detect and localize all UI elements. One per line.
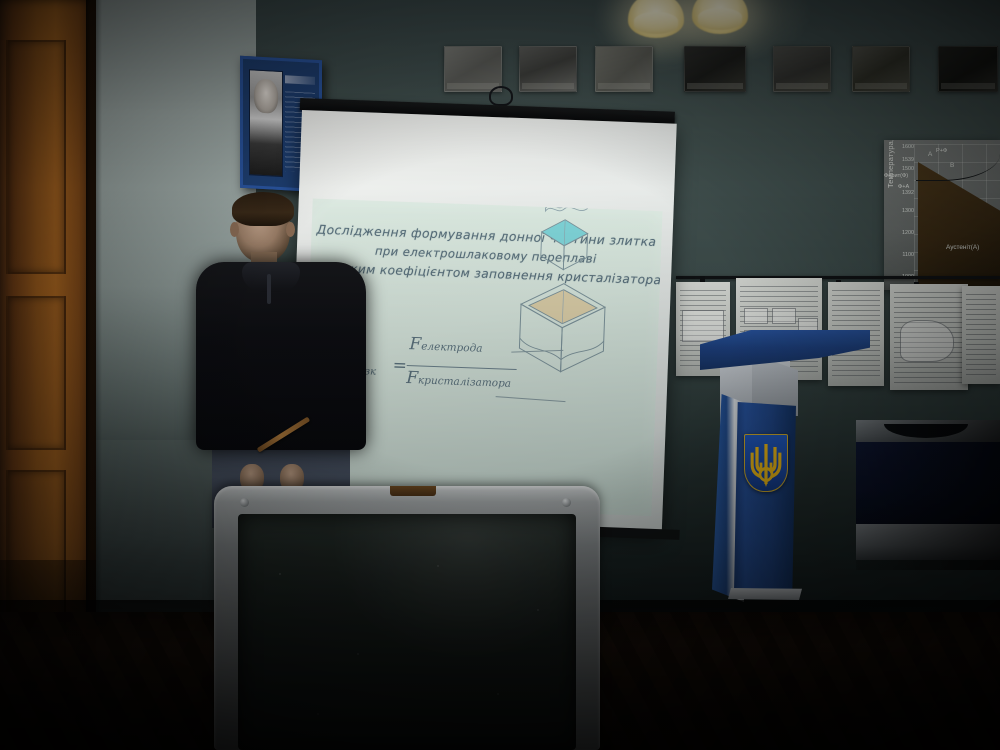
micrograph-panel [519,46,577,92]
phase-ytick: 1600 [888,144,914,150]
ukrainian-trident-emblem [744,434,788,492]
phase-ytick: 1100 [888,252,914,258]
lectern [700,330,870,630]
leader-line-mould [496,396,566,402]
electrode-cube-icon [536,213,592,277]
presenter [196,196,366,526]
desk-shading [856,420,1000,570]
formula-denominator-subscript: кристалізатора [418,374,512,389]
monitor-screen-dust [238,514,576,750]
formula-symbol-subscript: зк [364,366,376,377]
phase-ytick: 1392 [888,190,914,196]
phase-label-austenite: Аустеніт(А) [946,244,979,251]
presenter-zipper [267,274,271,304]
portrait-face [254,78,278,113]
presenter-hair [232,192,294,226]
monitor-top-latch [390,486,436,496]
phase-point-b: B [950,162,954,169]
plaque-heading [285,75,315,85]
wall-poster [962,286,1000,384]
phase-label-p-f: Р+Ф [936,148,947,154]
portrait-photo [249,69,283,177]
door-panel [6,40,66,274]
lectern-front-panel [734,402,796,594]
lectern-foot [728,588,802,600]
ceiling-lamp-1 [628,0,684,38]
formula-numerator-subscript: електрода [421,341,483,355]
iron-carbon-phase-diagram-poster: Температура, °C 1600 1539 1500 1392 1300… [884,140,1000,290]
micrograph-panel [444,46,502,92]
poster-text-lines [966,294,996,378]
phase-label-ferrite: Ферит(Ф) [884,173,908,179]
crt-lcd-monitor[interactable] [214,486,600,750]
micrograph-panel [684,46,746,92]
micrograph-panel [938,46,998,92]
poster-rail [676,276,1000,279]
ceiling-lamp-2 [692,0,748,34]
presenter-ear [286,222,295,237]
presenter-collar [242,262,300,292]
presenter-ear [230,222,239,237]
wooden-door[interactable] [0,0,96,700]
micrograph-panel [595,46,653,92]
monitor-screw-left [240,498,249,507]
formula-denominator: Fкристалізатора [406,368,512,392]
trident-icon [745,435,787,491]
phase-ytick: 1200 [888,230,914,236]
monitor-screw-right [562,498,571,507]
wall-poster [890,284,968,390]
phase-label-ferrite-austenite: Ф+А [898,184,909,190]
micrograph-panel [852,46,910,92]
phase-point-a: A [928,151,932,158]
phase-ytick: 1500 [888,166,914,172]
screen-hook [489,86,513,106]
poster-figure [900,320,954,362]
phase-ytick: 1300 [888,208,914,214]
mould-box-icon [514,278,610,379]
door-panel [6,296,66,450]
poster-figure [744,308,768,324]
lecture-hall-scene: Температура, °C 1600 1539 1500 1392 1300… [0,0,1000,750]
formula-equals: = [392,356,407,377]
poster-figure [772,308,796,324]
micrograph-panel [773,46,831,92]
formula-numerator: Fелектрода [409,334,483,357]
phase-ytick: 1539 [888,157,914,163]
